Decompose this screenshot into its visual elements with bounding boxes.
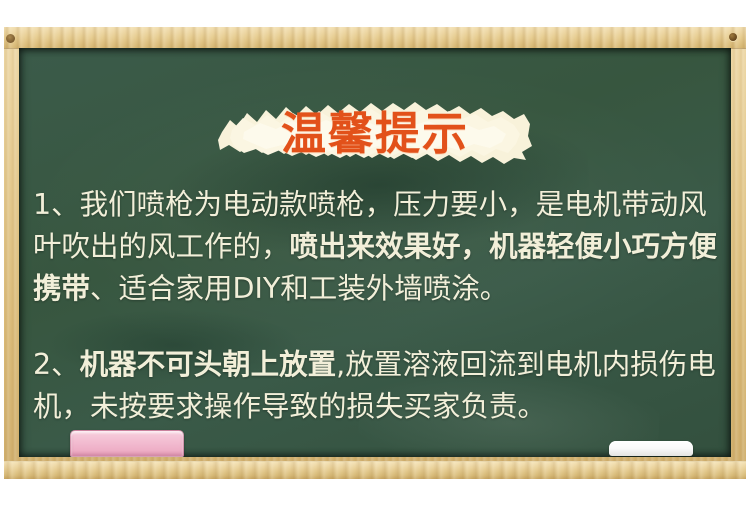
blackboard-wooden-frame: 温馨提示 1、我们喷枪为电动款喷枪，压力要小，是电机带动风叶吹出的风工作的，喷出… (4, 27, 746, 479)
page-title: 温馨提示 (281, 111, 469, 156)
frame-screw-top-left-icon (6, 34, 15, 43)
notice-text-block: 1、我们喷枪为电动款喷枪，压力要小，是电机带动风叶吹出的风工作的，喷出来效果好，… (33, 184, 721, 428)
frame-top-rail (4, 27, 746, 49)
blackboard-eraser-icon (70, 430, 184, 457)
notice-item-1-run-3: 、适合家用DIY和工装外墙喷涂。 (90, 272, 508, 305)
notice-item-2-run-2: 机器不可头朝上放置 (80, 348, 337, 381)
notice-item-1: 1、我们喷枪为电动款喷枪，压力要小，是电机带动风叶吹出的风工作的，喷出来效果好，… (33, 184, 721, 310)
notice-item-2: 2、机器不可头朝上放置,放置溶液回流到电机内损伤电机，未按要求操作导致的损失买家… (33, 344, 721, 428)
notice-item-2-run-1: 2、 (33, 348, 80, 381)
chalk-ledge-shelf (4, 461, 746, 479)
frame-screw-top-right-icon (729, 33, 737, 41)
title-banner: 温馨提示 (19, 90, 731, 176)
white-chalk-icon (609, 441, 693, 456)
blackboard-notice-image: 温馨提示 1、我们喷枪为电动款喷枪，压力要小，是电机带动风叶吹出的风工作的，喷出… (0, 0, 750, 507)
chalkboard-surface: 温馨提示 1、我们喷枪为电动款喷枪，压力要小，是电机带动风叶吹出的风工作的，喷出… (19, 48, 731, 457)
brushstroke-shape: 温馨提示 (216, 96, 534, 170)
